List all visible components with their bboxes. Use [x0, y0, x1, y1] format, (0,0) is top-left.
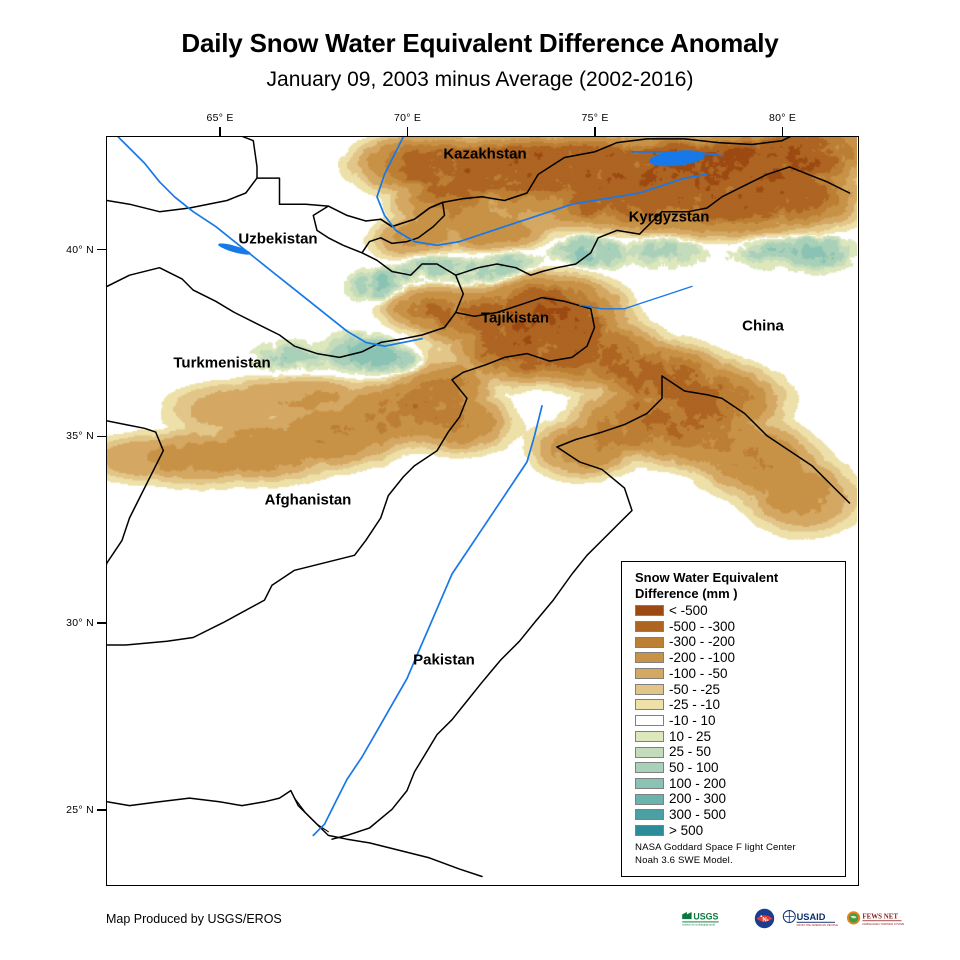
- loc-kashmir: [557, 376, 662, 447]
- legend-item: -100 - -50: [635, 666, 735, 682]
- legend-label: 300 - 500: [669, 808, 726, 822]
- legend-item: > 500: [635, 823, 735, 839]
- svg-text:N: N: [762, 918, 766, 924]
- legend-item: -200 - -100: [635, 650, 735, 666]
- legend-swatch: [635, 809, 664, 820]
- svg-text:FAMINE EARLY WARNING SYSTEMS N: FAMINE EARLY WARNING SYSTEMS NETWORK: [862, 923, 904, 926]
- legend-swatch: [635, 778, 664, 789]
- legend-items: < -500-500 - -300-300 - -200-200 - -100-…: [635, 603, 735, 838]
- legend-label: 100 - 200: [669, 777, 726, 791]
- border-pk-india: [332, 447, 632, 839]
- legend-swatch: [635, 731, 664, 742]
- legend-item: 200 - 300: [635, 791, 735, 807]
- legend-swatch: [635, 747, 664, 758]
- legend-label: 10 - 25: [669, 730, 711, 744]
- legend-label: 200 - 300: [669, 792, 726, 806]
- country-label-afghanistan: Afghanistan: [265, 492, 352, 509]
- legend-label: > 500: [669, 824, 703, 838]
- x-tick-label-2: 75° E: [581, 112, 608, 124]
- x-tick-2: [594, 127, 596, 136]
- border-china-tibet: [722, 398, 850, 503]
- border-af-pk: [107, 380, 467, 645]
- legend-item: -300 - -200: [635, 634, 735, 650]
- svg-text:USAID: USAID: [797, 912, 826, 922]
- legend-title-line2: Difference (mm ): [635, 586, 835, 602]
- x-tick-label-0: 65° E: [206, 112, 233, 124]
- legend-swatch: [635, 684, 664, 695]
- coastline-arabian-sea: [107, 791, 482, 877]
- x-tick-label-3: 80° E: [769, 112, 796, 124]
- legend-item: 100 - 200: [635, 776, 735, 792]
- legend-title: Snow Water Equivalent Difference (mm ): [635, 570, 835, 602]
- legend-label: -300 - -200: [669, 635, 735, 649]
- legend-item: -10 - 10: [635, 713, 735, 729]
- legend-item: -500 - -300: [635, 619, 735, 635]
- y-tick-label-2: 30° N: [52, 617, 94, 629]
- border-china-ne: [790, 167, 850, 193]
- svg-text:FEWS NET: FEWS NET: [862, 914, 898, 921]
- legend-swatch: [635, 825, 664, 836]
- legend-swatch: [635, 715, 664, 726]
- nasa-logo: N: [754, 908, 775, 929]
- legend-item: < -500: [635, 603, 735, 619]
- y-tick-label-3: 25° N: [52, 804, 94, 816]
- legend-item: 10 - 25: [635, 729, 735, 745]
- legend-item: -25 - -10: [635, 697, 735, 713]
- x-tick-3: [782, 127, 784, 136]
- border-af-iran: [107, 421, 163, 645]
- footer-logos: USGS science for a changing world N USAI…: [681, 908, 904, 929]
- legend-label: < -500: [669, 604, 708, 618]
- legend-label: -200 - -100: [669, 651, 735, 665]
- country-label-turkmenistan: Turkmenistan: [173, 355, 270, 372]
- country-label-uzbekistan: Uzbekistan: [238, 231, 317, 248]
- legend-label: -50 - -25: [669, 683, 720, 697]
- river-yarkand: [580, 286, 693, 308]
- usaid-logo: USAID FROM THE AMERICAN PEOPLE: [782, 908, 839, 929]
- svg-text:science for a changing world: science for a changing world: [682, 923, 715, 927]
- legend-swatch: [635, 605, 664, 616]
- country-label-kyrgyzstan: Kyrgyzstan: [629, 209, 710, 226]
- legend-swatch: [635, 699, 664, 710]
- source-line2: Noah 3.6 SWE Model.: [635, 855, 796, 868]
- country-label-china: China: [742, 318, 784, 335]
- border-karakoram: [662, 376, 722, 398]
- legend-item: -50 - -25: [635, 681, 735, 697]
- border-kg-china: [456, 167, 790, 275]
- y-tick-0: [97, 249, 106, 251]
- legend-item: 50 - 100: [635, 760, 735, 776]
- legend-title-line1: Snow Water Equivalent: [635, 570, 835, 586]
- country-label-pakistan: Pakistan: [413, 652, 475, 669]
- y-tick-1: [97, 436, 106, 438]
- border-uzbekistan-north: [107, 178, 257, 212]
- legend-swatch: [635, 762, 664, 773]
- legend-item: 25 - 50: [635, 744, 735, 760]
- fewsnet-logo: FEWS NET FAMINE EARLY WARNING SYSTEMS NE…: [846, 908, 904, 929]
- legend-label: 25 - 50: [669, 745, 711, 759]
- y-tick-2: [97, 622, 106, 624]
- river-indus: [313, 406, 542, 836]
- svg-text:USGS: USGS: [693, 912, 718, 922]
- legend-swatch: [635, 652, 664, 663]
- legend-swatch: [635, 668, 664, 679]
- x-tick-0: [219, 127, 221, 136]
- source-line1: NASA Goddard Space F light Center: [635, 842, 796, 855]
- footer-credit: Map Produced by USGS/EROS: [106, 912, 282, 926]
- legend-item: 300 - 500: [635, 807, 735, 823]
- y-tick-label-1: 35° N: [52, 430, 94, 442]
- legend-label: 50 - 100: [669, 761, 719, 775]
- legend-swatch: [635, 794, 664, 805]
- y-tick-3: [97, 809, 106, 811]
- country-label-kazakhstan: Kazakhstan: [443, 146, 526, 163]
- legend-label: -500 - -300: [669, 620, 735, 634]
- x-tick-1: [407, 127, 409, 136]
- legend-swatch: [635, 637, 664, 648]
- legend-panel: Snow Water Equivalent Difference (mm ) <…: [621, 561, 846, 877]
- country-label-tajikistan: Tajikistan: [481, 310, 549, 327]
- x-tick-label-1: 70° E: [394, 112, 421, 124]
- usgs-logo: USGS science for a changing world: [681, 908, 747, 929]
- legend-swatch: [635, 621, 664, 632]
- river-syr-darya: [377, 137, 707, 245]
- legend-label: -10 - 10: [669, 714, 716, 728]
- lake-issyk-kul: [648, 148, 705, 169]
- legend-label: -25 - -10: [669, 698, 720, 712]
- page-title: Daily Snow Water Equivalent Difference A…: [0, 28, 960, 59]
- legend-source-note: NASA Goddard Space F light Center Noah 3…: [635, 842, 796, 867]
- page-subtitle: January 09, 2003 minus Average (2002-201…: [0, 68, 960, 92]
- svg-text:FROM THE AMERICAN PEOPLE: FROM THE AMERICAN PEOPLE: [797, 923, 839, 927]
- legend-label: -100 - -50: [669, 667, 728, 681]
- y-tick-label-0: 40° N: [52, 244, 94, 256]
